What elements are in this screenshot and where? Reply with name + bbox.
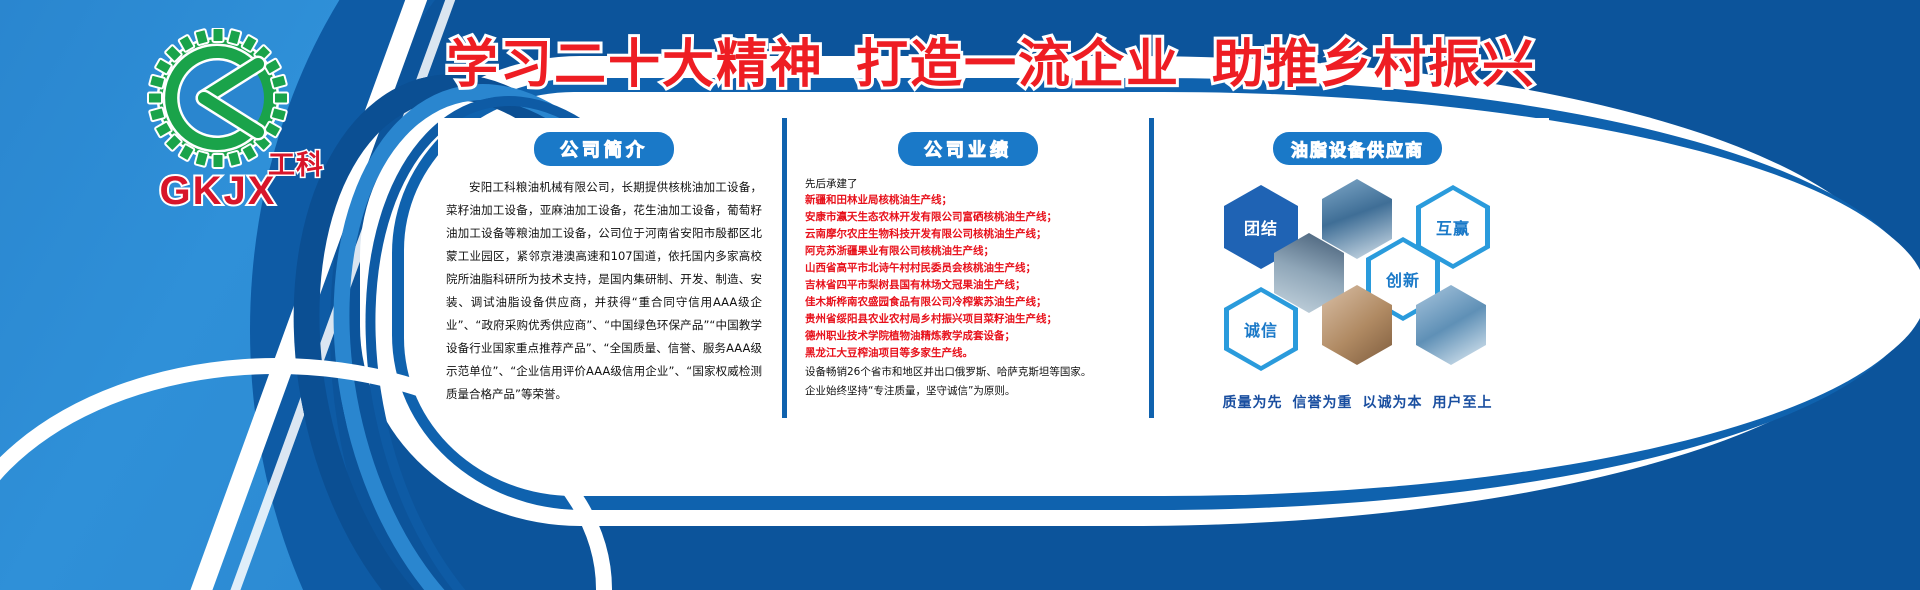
hex-integrity-label: 诚信 bbox=[1229, 292, 1293, 366]
list-item: 新疆和田林业局核桃油生产线； bbox=[805, 192, 1131, 209]
supplier-slogan: 质量为先信誉为重以诚为本用户至上 bbox=[1166, 392, 1549, 412]
list-item: 云南摩尔农庄生物科技开发有限公司核桃油生产线； bbox=[805, 226, 1131, 243]
logo-text-en: GKJX bbox=[118, 169, 318, 214]
slogan-part-3: 以诚为本 bbox=[1363, 395, 1423, 411]
banner-headline: 学习二十大精神打造一流企业助推乡村振兴 bbox=[430, 22, 1490, 97]
performance-outro-2: 企业始终坚持“专注质量，坚守诚信”为原则。 bbox=[805, 383, 1131, 400]
slogan-part-2: 信誉为重 bbox=[1293, 395, 1353, 411]
slogan-part-4: 用户至上 bbox=[1433, 395, 1493, 411]
card-company-performance: 公司业绩 先后承建了 新疆和田林业局核桃油生产线； 安康市瀛天生态农林开发有限公… bbox=[799, 118, 1137, 418]
gear-icon bbox=[143, 28, 293, 160]
list-item: 安康市瀛天生态农林开发有限公司富硒核桃油生产线； bbox=[805, 209, 1131, 226]
list-item: 阿克苏浙疆果业有限公司核桃油生产线； bbox=[805, 243, 1131, 260]
list-item: 德州职业技术学院植物油精炼教学成套设备； bbox=[805, 328, 1131, 345]
list-item: 贵州省绥阳县农业农村局乡村振兴项目菜籽油生产线； bbox=[805, 311, 1131, 328]
performance-project-list: 新疆和田林业局核桃油生产线； 安康市瀛天生态农林开发有限公司富硒核桃油生产线； … bbox=[805, 192, 1131, 362]
card-profile-title: 公司简介 bbox=[534, 132, 674, 166]
card-divider-1 bbox=[782, 118, 787, 418]
list-item: 黑龙江大豆榨油项目等多家生产线。 bbox=[805, 345, 1131, 362]
list-item: 吉林省四平市梨树县国有林场文冠果油生产线； bbox=[805, 277, 1131, 294]
slogan-part-1: 质量为先 bbox=[1223, 395, 1283, 411]
headline-segment-1: 学习二十大精神 bbox=[446, 35, 824, 95]
list-item: 山西省高平市北诗午村村民委员会核桃油生产线； bbox=[805, 260, 1131, 277]
card-performance-title: 公司业绩 bbox=[898, 132, 1038, 166]
performance-outro-1: 设备畅销26个省市和地区并出口俄罗斯、哈萨克斯坦等国家。 bbox=[805, 364, 1131, 381]
performance-intro: 先后承建了 bbox=[805, 176, 1131, 192]
card-supplier: 油脂设备供应商 团结 互赢 创新 诚信 bbox=[1166, 118, 1549, 418]
card-company-profile: 公司简介 安阳工科粮油机械有限公司，长期提供核桃油加工设备，菜籽油加工设备，亚麻… bbox=[438, 118, 770, 418]
promotional-banner: 工科 GKJX 学习二十大精神打造一流企业助推乡村振兴 公司简介 安阳工科粮油机… bbox=[0, 0, 1920, 590]
company-logo: 工科 GKJX bbox=[118, 28, 318, 208]
card-divider-2 bbox=[1149, 118, 1154, 418]
headline-segment-3: 助推乡村振兴 bbox=[1212, 35, 1536, 95]
headline-segment-2: 打造一流企业 bbox=[856, 35, 1180, 95]
card-profile-body: 安阳工科粮油机械有限公司，长期提供核桃油加工设备，菜籽油加工设备，亚麻油加工设备… bbox=[446, 176, 762, 406]
hexagon-cluster: 团结 互赢 创新 诚信 bbox=[1166, 175, 1549, 371]
card-supplier-title: 油脂设备供应商 bbox=[1273, 132, 1442, 165]
content-cards: 公司简介 安阳工科粮油机械有限公司，长期提供核桃油加工设备，菜籽油加工设备，亚麻… bbox=[438, 118, 1902, 418]
list-item: 佳木斯桦南农盛园食品有限公司冷榨紫苏油生产线； bbox=[805, 294, 1131, 311]
